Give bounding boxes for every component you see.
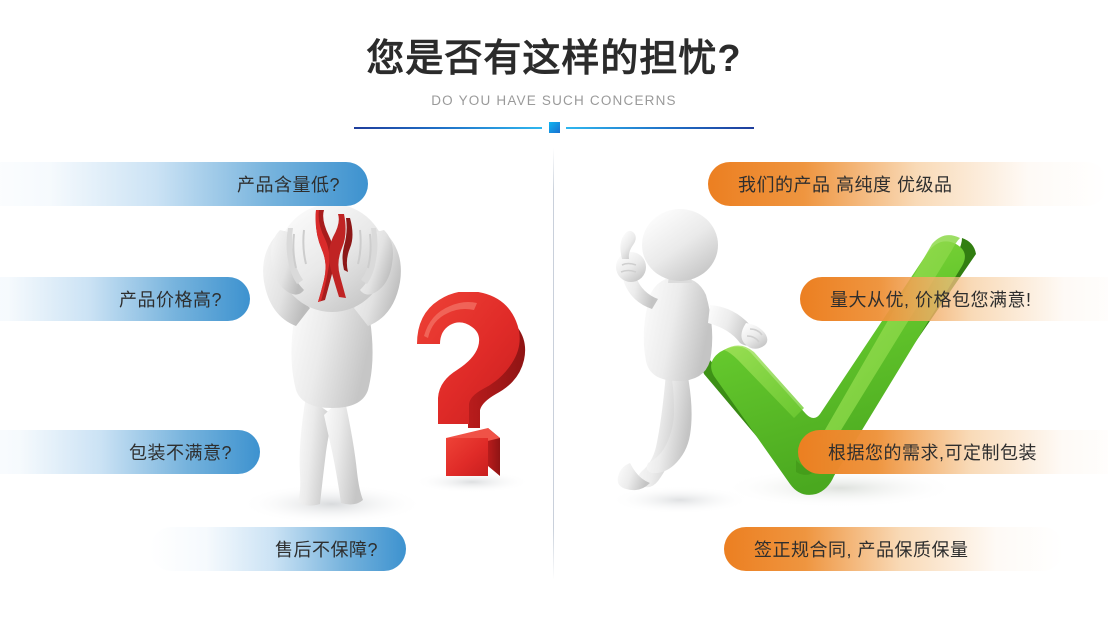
solution-pill-4-label: 签正规合同, 产品保质保量 [754, 536, 969, 562]
thumbs-up-figure-icon [600, 205, 790, 515]
solution-pill-1[interactable]: 我们的产品 高纯度 优级品 [708, 162, 1108, 206]
concern-pill-1[interactable]: 产品含量低? [0, 162, 368, 206]
solution-pill-1-label: 我们的产品 高纯度 优级品 [738, 171, 953, 197]
solution-pill-3[interactable]: 根据您的需求,可定制包装 [798, 430, 1108, 474]
concern-pill-4-label: 售后不保障? [275, 536, 378, 562]
page-title: 您是否有这样的担忧? [0, 36, 1108, 82]
solution-pill-3-label: 根据您的需求,可定制包装 [828, 439, 1037, 465]
divider-square-icon [549, 122, 560, 133]
panel-divider [553, 148, 554, 580]
solution-pill-2-label: 量大从优, 价格包您满意! [830, 286, 1032, 312]
concern-pill-1-label: 产品含量低? [237, 171, 340, 197]
concern-pill-4[interactable]: 售后不保障? [150, 527, 406, 571]
header: 您是否有这样的担忧? DO YOU HAVE SUCH CONCERNS [0, 0, 1108, 145]
solution-pill-2[interactable]: 量大从优, 价格包您满意! [800, 277, 1108, 321]
concern-pill-2[interactable]: 产品价格高? [0, 277, 250, 321]
divider-line-left [354, 127, 542, 129]
concern-pill-2-label: 产品价格高? [119, 286, 222, 312]
concern-pill-3-label: 包装不满意? [129, 439, 232, 465]
header-divider [354, 119, 754, 137]
page-subtitle: DO YOU HAVE SUCH CONCERNS [0, 92, 1108, 110]
promo-banner: 您是否有这样的担忧? DO YOU HAVE SUCH CONCERNS [0, 0, 1108, 632]
concern-pill-3[interactable]: 包装不满意? [0, 430, 260, 474]
question-mark-icon [400, 292, 550, 492]
divider-line-right [566, 127, 754, 129]
solution-pill-4[interactable]: 签正规合同, 产品保质保量 [724, 527, 1064, 571]
